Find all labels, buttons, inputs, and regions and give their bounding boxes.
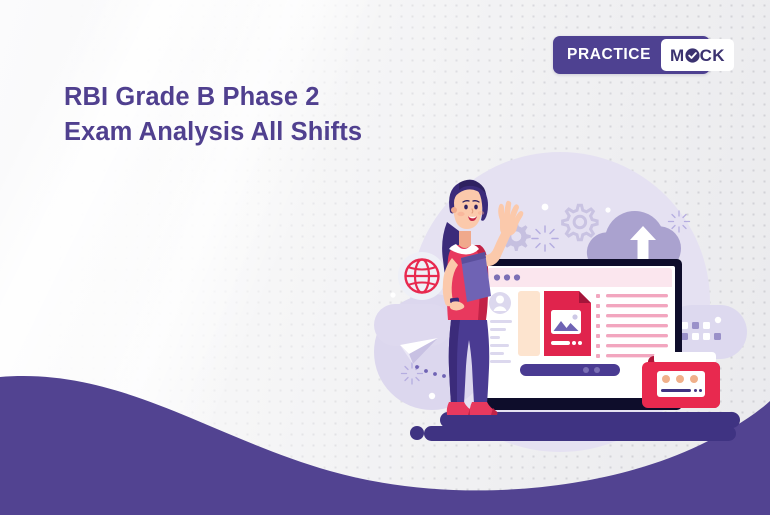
decor-pill [374,304,452,346]
decor-dot [542,204,549,211]
browser-dot [494,274,500,280]
page-title-line1: RBI Grade B Phase 2 [64,83,320,111]
avatar-icon [489,292,511,314]
progress-bar [520,364,620,376]
folder-dot [690,375,698,383]
peach-card [518,291,540,356]
hero-illustration [0,0,770,515]
browser-dot [514,274,520,280]
blush [457,212,464,216]
browser-dot [504,274,510,280]
document-card [544,291,591,356]
folder-card [642,352,720,408]
logo-practice-text: PRACTICE [556,47,661,63]
check-circle-icon [685,48,700,63]
blush [478,211,484,215]
eye [474,205,478,210]
decor-dot [390,292,395,297]
globe-icon [398,252,446,300]
folder-dot [676,375,684,383]
logo-mock-text: MCK [670,47,725,64]
laptop-base [410,412,740,441]
page-title: RBI Grade B Phase 2 Exam Analysis All Sh… [64,80,362,150]
logo-mock-chip: MCK [661,39,734,71]
decor-dot [605,207,610,212]
poster-canvas: PRACTICE MCK RBI Grade B Phase 2 Exam An… [0,0,770,515]
logo-mock-prefix: M [670,46,685,65]
neck [459,231,471,248]
page-title-line2: Exam Analysis All Shifts [64,115,362,150]
folder-dot [662,375,670,383]
decor-dot [429,393,435,399]
brand-logo[interactable]: PRACTICE MCK [553,36,710,74]
logo-mock-suffix: CK [700,46,725,65]
eye [464,205,468,210]
ear [451,207,457,213]
